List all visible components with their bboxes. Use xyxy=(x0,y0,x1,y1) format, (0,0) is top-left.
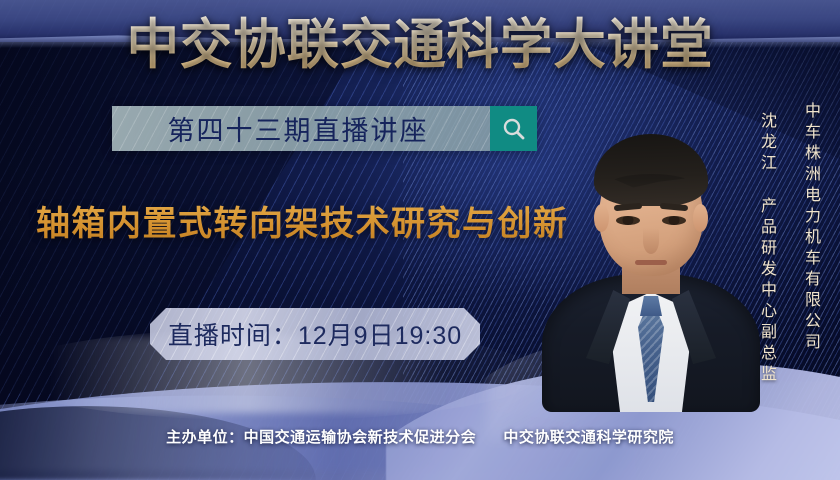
portrait-eye-left xyxy=(616,216,640,225)
search-icon xyxy=(501,116,527,142)
speaker-company: 中车株洲电力机车有限公司 xyxy=(798,102,822,354)
search-icon-box[interactable] xyxy=(490,106,537,151)
portrait-mouth xyxy=(635,260,667,265)
speaker-name-title: 沈龙江 产品研发中心副总监 xyxy=(754,112,778,386)
speaker-portrait xyxy=(542,112,760,412)
portrait-nose xyxy=(643,228,659,254)
live-lecture-poster: 中交协联交通科学大讲堂 第四十三期直播讲座 轴箱内置式转向架技术研究与创新 直播… xyxy=(0,0,840,480)
page-title: 中交协联交通科学大讲堂 xyxy=(13,16,828,75)
organizer-prefix: 主办单位：中国交通运输协会新技术促进分会 xyxy=(166,429,476,446)
broadcast-time-label: 直播时间：12月9日19:30 xyxy=(168,316,462,352)
organizer-footer: 主办单位：中国交通运输协会新技术促进分会 中交协联交通科学研究院 xyxy=(0,426,840,447)
episode-bar: 第四十三期直播讲座 xyxy=(112,106,537,151)
organizer-suffix: 中交协联交通科学研究院 xyxy=(503,429,674,446)
portrait-ear-right xyxy=(693,204,708,232)
episode-label: 第四十三期直播讲座 xyxy=(112,106,490,151)
broadcast-time-badge: 直播时间：12月9日19:30 xyxy=(150,308,480,360)
portrait-ear-left xyxy=(594,204,609,232)
portrait-eye-right xyxy=(662,216,686,225)
topic-title: 轴箱内置式转向架技术研究与创新 xyxy=(36,196,569,245)
